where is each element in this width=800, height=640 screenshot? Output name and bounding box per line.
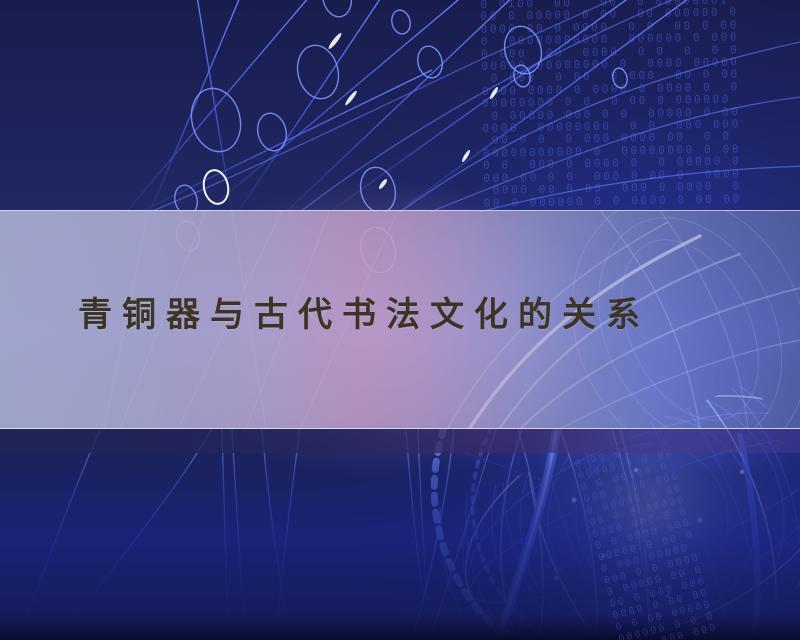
page-title: 青铜器与古代书法文化的关系	[78, 293, 738, 337]
presentation-slide: 0 0100 00 00 0 00000001 00 0 00000 0 00 …	[0, 0, 800, 640]
title-band-under-strip	[0, 429, 800, 453]
